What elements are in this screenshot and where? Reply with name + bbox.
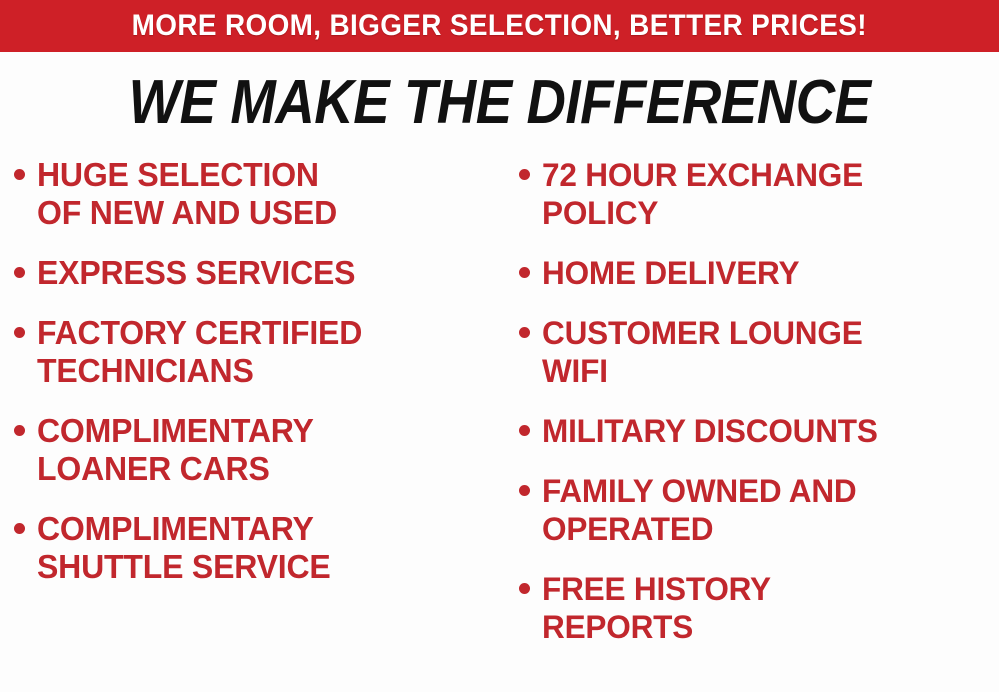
features-columns: HUGE SELECTION OF NEW AND USED EXPRESS S… [0,156,999,692]
list-item-line1: EXPRESS SERVICES [37,254,355,291]
list-item-line1: FACTORY CERTIFIED [37,314,362,351]
list-item-line1: MILITARY DISCOUNTS [542,413,878,449]
list-item-line1: HUGE SELECTION [37,156,319,193]
list-item-text: HOME DELIVERY [542,254,799,292]
list-item-line2: POLICY [542,194,863,232]
list-item-text: MILITARY DISCOUNTS [542,412,878,450]
list-item-line1: FAMILY OWNED AND [542,473,857,509]
bullet-dot-icon [14,425,25,436]
headline-container: WE MAKE THE DIFFERENCE [0,62,999,144]
list-item-line1: 72 HOUR EXCHANGE [542,157,863,193]
bullet-dot-icon [519,267,530,278]
list-item-text: EXPRESS SERVICES [37,254,355,292]
list-item-text: FAMILY OWNED AND OPERATED [542,472,857,548]
bullet-dot-icon [14,523,25,534]
list-item: FREE HISTORY REPORTS [519,570,997,646]
list-item-text: CUSTOMER LOUNGE WIFI [542,314,863,390]
list-item: 72 HOUR EXCHANGE POLICY [519,156,997,232]
list-item-text: COMPLIMENTARY SHUTTLE SERVICE [37,510,331,586]
list-item: HOME DELIVERY [519,254,997,292]
list-item-line2: LOANER CARS [37,450,314,488]
list-item-line2: REPORTS [542,608,771,646]
list-item-line2: WIFI [542,352,863,390]
bullet-dot-icon [519,327,530,338]
list-item: EXPRESS SERVICES [14,254,501,292]
bullet-dot-icon [14,169,25,180]
list-item: HUGE SELECTION OF NEW AND USED [14,156,501,232]
list-item-text: FACTORY CERTIFIED TECHNICIANS [37,314,362,390]
list-item-line2: OF NEW AND USED [37,194,337,232]
list-item: MILITARY DISCOUNTS [519,412,997,450]
list-item-text: FREE HISTORY REPORTS [542,570,771,646]
bullet-dot-icon [519,169,530,180]
list-item-line2: OPERATED [542,510,857,548]
features-column-left: HUGE SELECTION OF NEW AND USED EXPRESS S… [0,156,505,608]
features-column-right: 72 HOUR EXCHANGE POLICY HOME DELIVERY CU… [505,156,999,668]
list-item-line2: SHUTTLE SERVICE [37,548,331,586]
list-item-line2: TECHNICIANS [37,352,362,390]
bullet-dot-icon [14,327,25,338]
promo-banner-text: MORE ROOM, BIGGER SELECTION, BETTER PRIC… [132,9,867,43]
bullet-dot-icon [519,425,530,436]
list-item-text: COMPLIMENTARY LOANER CARS [37,412,314,488]
bullet-dot-icon [14,267,25,278]
list-item-line1: HOME DELIVERY [542,255,799,291]
list-item: COMPLIMENTARY SHUTTLE SERVICE [14,510,501,586]
list-item-line1: COMPLIMENTARY [37,412,314,449]
list-item: COMPLIMENTARY LOANER CARS [14,412,501,488]
list-item-line1: COMPLIMENTARY [37,510,314,547]
list-item-text: HUGE SELECTION OF NEW AND USED [37,156,337,232]
list-item: FAMILY OWNED AND OPERATED [519,472,997,548]
page-title: WE MAKE THE DIFFERENCE [128,72,870,134]
bullet-dot-icon [519,485,530,496]
bullet-dot-icon [519,583,530,594]
list-item-line1: CUSTOMER LOUNGE [542,315,863,351]
list-item: FACTORY CERTIFIED TECHNICIANS [14,314,501,390]
promo-banner: MORE ROOM, BIGGER SELECTION, BETTER PRIC… [0,0,999,52]
list-item: CUSTOMER LOUNGE WIFI [519,314,997,390]
list-item-text: 72 HOUR EXCHANGE POLICY [542,156,863,232]
list-item-line1: FREE HISTORY [542,571,771,607]
